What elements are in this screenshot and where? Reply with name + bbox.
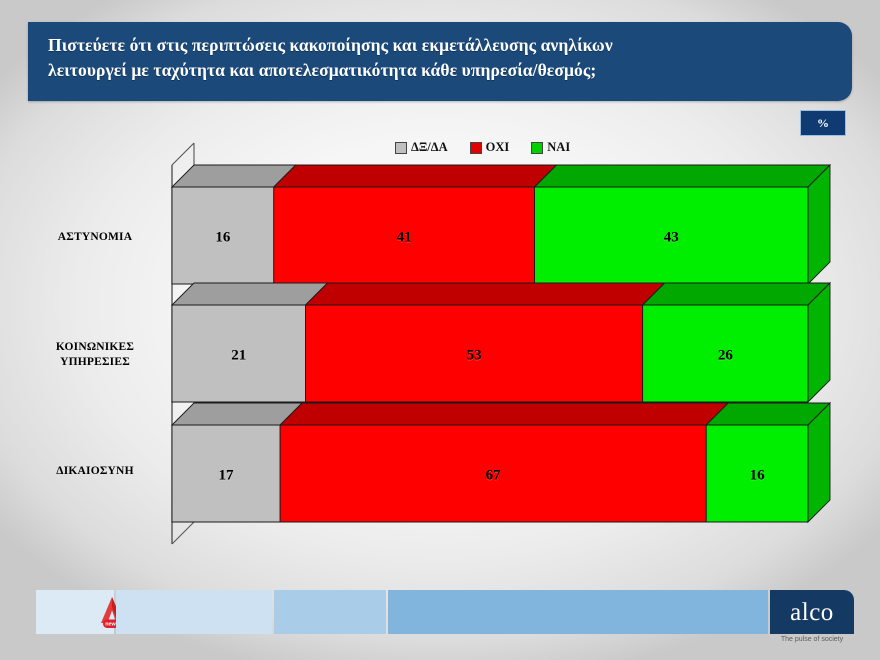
bar-side-face [808,403,830,522]
category-label-koinonikes-ypiresies: ΚΟΙΝΩΝΙΚΕΣ ΥΠΗΡΕΣΙΕΣ [25,340,165,369]
bar-value-label: 26 [718,347,733,364]
bar-value-label: 21 [231,347,246,364]
bar-value-label: 17 [219,467,234,484]
category-label-line: ΚΟΙΝΩΝΙΚΕΣ [56,341,134,353]
bar-top-face [535,165,830,187]
alco-wordmark: alco [790,600,834,625]
footer-block-3 [274,590,386,634]
category-label-line: ΥΠΗΡΕΣΙΕΣ [60,356,130,368]
legend-label-oxi: ΟΧΙ [486,140,510,155]
legend-item-nai[interactable]: ΝΑΙ [531,140,570,155]
bar-value-label: 43 [664,229,679,246]
bar-top-face [172,403,302,425]
bar-value-label: 53 [467,347,482,364]
unit-badge: % [800,110,846,136]
chart-legend: ΔΞ/ΔΑ ΟΧΙ ΝΑΙ [395,140,570,155]
legend-item-dxda[interactable]: ΔΞ/ΔΑ [395,140,448,155]
footer-block-4 [388,590,768,634]
category-label-line: ΑΣΤΥΝΟΜΙΑ [58,231,132,243]
legend-label-nai: ΝΑΙ [547,140,570,155]
title-banner: Πιστεύετε ότι στις περιπτώσεις κακοποίησ… [28,22,852,101]
bar-top-face [643,283,830,305]
category-label-line: ΔΙΚΑΙΟΣΥΝΗ [56,465,133,477]
legend-swatch-dxda [395,142,407,154]
footer-block-2 [116,590,272,634]
bar-top-face [280,403,728,425]
footer-block-1: news [36,590,114,634]
slide-canvas: Πιστεύετε ότι στις περιπτώσεις κακοποίησ… [0,0,880,660]
bar-value-label: 41 [397,229,412,246]
bar-top-face [172,283,328,305]
bar-top-face [306,283,665,305]
bar-value-label: 67 [486,467,501,484]
bar-top-face [274,165,557,187]
bar-top-face [172,165,296,187]
alco-logo[interactable]: alco [770,590,854,634]
legend-swatch-nai [531,142,543,154]
bar-top-face [706,403,830,425]
bar-side-face [808,165,830,284]
footer: news alco The pulse of society [0,590,880,638]
category-label-dikaiosyni: ΔΙΚΑΙΟΣΥΝΗ [25,464,165,479]
bar-value-label: 16 [750,467,765,484]
legend-swatch-oxi [470,142,482,154]
title-line-1: Πιστεύετε ότι στις περιπτώσεις κακοποίησ… [48,35,613,55]
alco-tagline: The pulse of society [762,636,862,643]
bar-value-label: 16 [215,229,230,246]
legend-item-oxi[interactable]: ΟΧΙ [470,140,510,155]
category-label-astynomia: ΑΣΤΥΝΟΜΙΑ [25,230,165,245]
page-title: Πιστεύετε ότι στις περιπτώσεις κακοποίησ… [48,33,838,83]
bar-side-face [808,283,830,402]
title-line-2: λειτουργεί με ταχύτητα και αποτελεσματικ… [48,60,596,80]
legend-label-dxda: ΔΞ/ΔΑ [411,140,448,155]
